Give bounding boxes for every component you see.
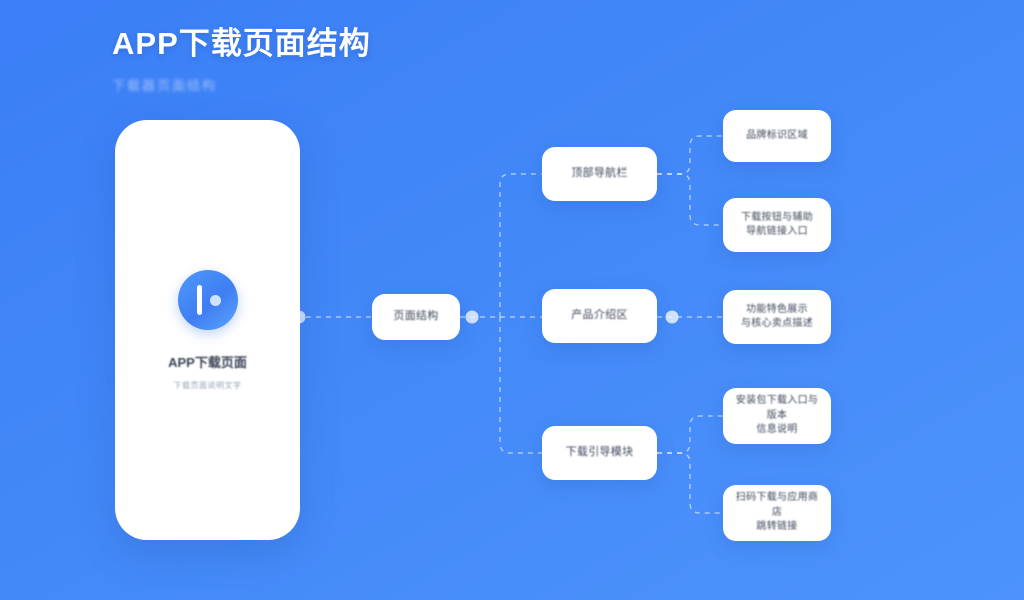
node-branch-1[interactable]: 产品介绍区 — [542, 289, 657, 343]
phone-app-name: APP下载页面 — [168, 352, 247, 371]
node-branch-2-label: 下载引导模块 — [566, 445, 634, 461]
phone-screen: APP下载页面 下载页面说明文字 — [115, 120, 300, 540]
phone-mockup: APP下载页面 下载页面说明文字 — [115, 120, 300, 540]
app-logo-icon — [178, 270, 238, 330]
connector-dot-branch — [666, 311, 679, 324]
node-leaf-2-0-label: 安装包下载入口与版本信息说明 — [731, 394, 823, 438]
node-leaf-0-0-label: 品牌标识区域 — [746, 129, 808, 144]
node-leaf-2-0[interactable]: 安装包下载入口与版本信息说明 — [723, 388, 831, 444]
connector-dot-trunk — [466, 311, 479, 324]
node-leaf-0-1[interactable]: 下载按钮与辅助导航链接入口 — [723, 198, 831, 252]
app-logo-bar — [197, 285, 202, 315]
phone-app-desc: 下载页面说明文字 — [174, 380, 242, 391]
node-leaf-0-0[interactable]: 品牌标识区域 — [723, 110, 831, 162]
node-leaf-0-1-label: 下载按钮与辅助导航链接入口 — [741, 211, 813, 240]
node-leaf-2-1[interactable]: 扫码下载与应用商店跳转链接 — [723, 485, 831, 541]
node-branch-1-label: 产品介绍区 — [571, 308, 628, 324]
node-branch-0[interactable]: 顶部导航栏 — [542, 147, 657, 201]
node-leaf-1-0-label: 功能特色展示与核心卖点描述 — [741, 303, 813, 332]
node-root-label: 页面结构 — [393, 309, 438, 325]
diagram-canvas: APP下载页面结构 下载器页面结构 — [0, 0, 1024, 600]
node-root[interactable]: 页面结构 — [372, 294, 460, 340]
app-logo-dot — [210, 295, 221, 306]
node-leaf-2-1-label: 扫码下载与应用商店跳转链接 — [731, 491, 823, 535]
node-leaf-1-0[interactable]: 功能特色展示与核心卖点描述 — [723, 290, 831, 344]
node-branch-0-label: 顶部导航栏 — [571, 166, 628, 182]
node-branch-2[interactable]: 下载引导模块 — [542, 426, 657, 480]
